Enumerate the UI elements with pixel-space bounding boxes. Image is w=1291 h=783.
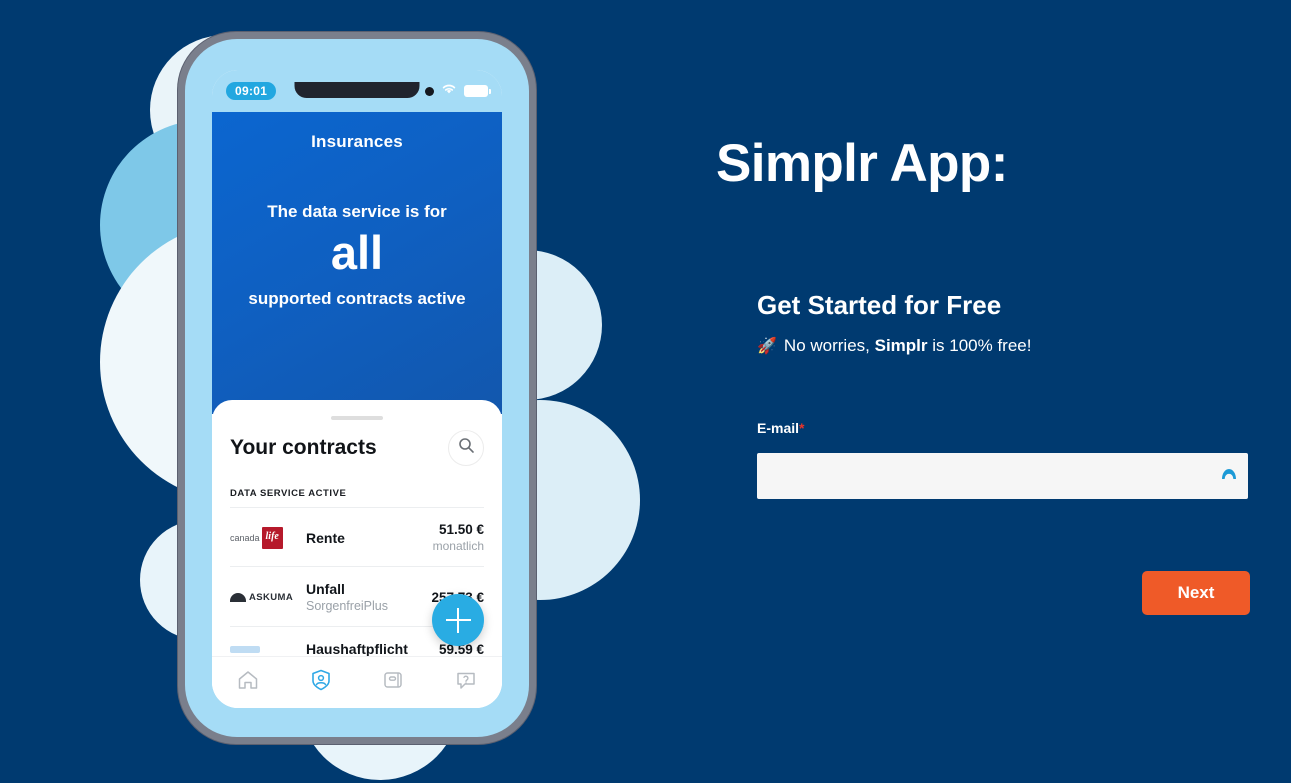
help-question-icon[interactable]: [454, 668, 478, 697]
bottom-tab-bar: [212, 656, 502, 708]
brand-mark-shape: [230, 593, 246, 602]
free-note: 🚀 No worries, Simplr is 100% free!: [757, 336, 1031, 356]
status-time: 09:01: [226, 82, 276, 100]
phone-mockup: 09:01 Insurances The data service is for…: [178, 32, 536, 744]
home-icon[interactable]: [236, 668, 260, 697]
email-field[interactable]: [757, 453, 1248, 499]
contract-period: monatlich: [433, 539, 484, 553]
brand-word: ASKUMA: [249, 592, 293, 603]
wallet-icon[interactable]: [381, 668, 405, 697]
front-camera-dot: [425, 87, 434, 96]
phone-notch: [295, 82, 420, 98]
sheet-grabber[interactable]: [331, 416, 383, 420]
nordpass-icon[interactable]: [1218, 465, 1240, 487]
required-marker: *: [799, 420, 804, 436]
profile-shield-icon[interactable]: [309, 668, 333, 697]
wifi-icon: [441, 82, 457, 100]
email-label-text: E-mail: [757, 420, 799, 436]
brand-logo: canada life: [230, 527, 306, 549]
placeholder-logo: [230, 646, 260, 653]
askuma-logo: ASKUMA: [230, 592, 293, 603]
phone-hero: Insurances The data service is for all s…: [212, 112, 502, 414]
card-header: Your contracts: [230, 430, 484, 466]
add-contract-button[interactable]: [432, 594, 484, 646]
hero-title: Insurances: [212, 132, 502, 152]
plus-icon: [446, 619, 471, 621]
phone-screen: 09:01 Insurances The data service is for…: [212, 70, 502, 708]
search-button[interactable]: [448, 430, 484, 466]
brand-logo: [230, 646, 306, 653]
contract-name: Haushaftpflicht: [306, 641, 439, 657]
canada-life-logo: canada life: [230, 527, 283, 549]
contract-amount: 51.50 €: [433, 522, 484, 537]
sub-heading: Get Started for Free: [757, 290, 1001, 321]
next-button[interactable]: Next: [1142, 571, 1250, 615]
brand-word: canada: [230, 533, 260, 543]
table-row[interactable]: canada life Rente 51.50 € monatlich: [230, 508, 484, 566]
brand-logo: ASKUMA: [230, 592, 306, 603]
contract-subtitle: SorgenfreiPlus: [306, 599, 431, 613]
hero-line-1: The data service is for: [212, 202, 502, 222]
battery-icon: [464, 85, 488, 97]
hero-emphasis: all: [212, 228, 502, 277]
note-brand: Simplr: [875, 336, 928, 355]
section-label: DATA SERVICE ACTIVE: [230, 488, 484, 499]
note-prefix: No worries,: [784, 336, 875, 355]
free-note-text: No worries, Simplr is 100% free!: [784, 336, 1032, 356]
rocket-icon: 🚀: [757, 336, 777, 356]
hero-line-2: supported contracts active: [212, 289, 502, 309]
brand-mark: life: [262, 527, 283, 549]
contract-name: Rente: [306, 530, 433, 546]
page-title: Simplr App:: [716, 133, 1008, 194]
search-icon: [458, 437, 475, 459]
contract-name: Unfall: [306, 581, 431, 597]
note-suffix: is 100% free!: [928, 336, 1032, 355]
email-label: E-mail*: [757, 420, 804, 436]
right-panel: Simplr App: Get Started for Free 🚀 No wo…: [716, 0, 1276, 783]
card-title: Your contracts: [230, 436, 377, 460]
